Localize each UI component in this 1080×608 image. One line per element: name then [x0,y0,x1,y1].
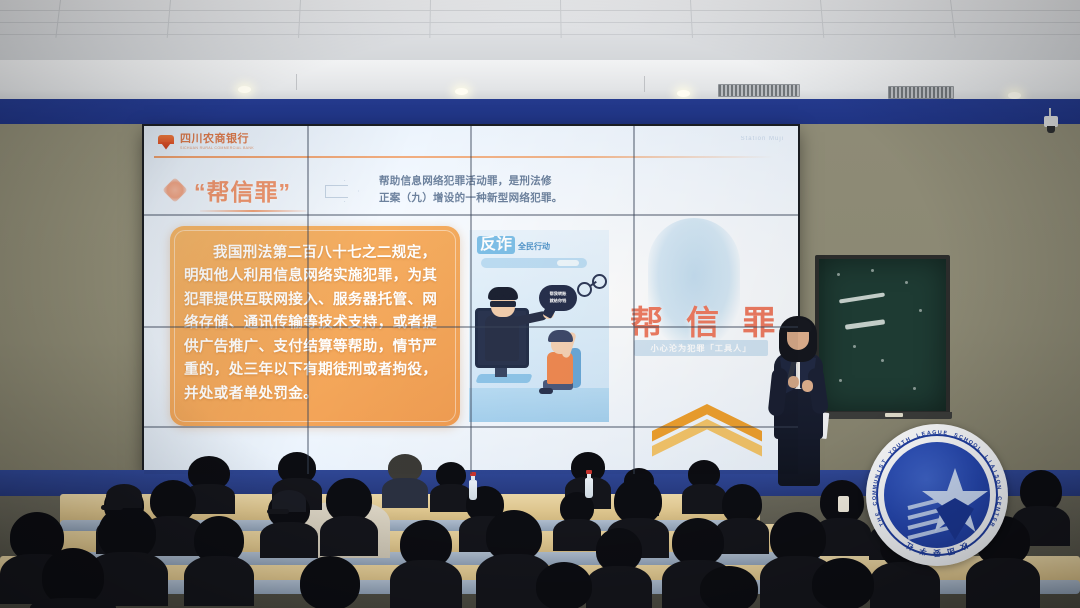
downlight-icon [677,90,690,97]
slide-title-row: “帮信罪” 帮助信息网络犯罪活动罪，是刑法修 正案（九）增设的一种新型网络犯罪。 [166,166,766,214]
scammer-hair [488,287,518,300]
downlight-icon [455,88,468,95]
lecture-hall-scene: 四川农商银行 SICHUAN RURAL COMMERCIAL BANK Sta… [0,0,1080,608]
slide-watermark: Station Muji [741,136,784,142]
chalkboard [815,255,950,415]
presenter-legs [778,434,820,486]
presenter-hand-right [802,380,813,392]
bank-name-cn: 四川农商银行 [180,134,254,145]
keyword-underline [200,210,306,212]
audience-person [812,558,874,608]
handcuffs-icon [577,272,609,298]
videowall-bezel-horizontal [144,426,798,428]
speech-bubble: 帮我转账 就给你钱 [539,285,577,311]
sunglasses-icon [490,301,516,307]
audience-person [560,492,594,548]
bubble-line-2: 就给你钱 [550,299,567,304]
hero-subtitle: 小心沦为犯罪「工具人」 [634,340,768,356]
security-camera-icon [1044,116,1058,127]
air-vent-icon [718,84,800,97]
audience-person [688,460,720,510]
anti-fraud-banner: 反诈 全民行动 [477,236,550,254]
diamond-bullet-icon [162,177,187,202]
cap-icon [272,490,306,512]
audience-person [436,462,466,508]
wall-blue-band [0,99,1080,126]
videowall-bezel-vertical [633,126,635,474]
videowall-bezel-vertical [470,126,472,474]
audience-person [820,480,864,552]
bank-name-en: SICHUAN RURAL COMMERCIAL BANK [180,147,254,151]
videowall-bezel-horizontal [144,326,798,328]
audience-person [486,510,542,606]
presenter [766,316,830,484]
ceiling-wire [644,76,645,92]
bank-logo-icon [158,135,174,150]
anti-fraud-sub-text: 全民行动 [518,243,550,252]
video-wall-display[interactable]: 四川农商银行 SICHUAN RURAL COMMERCIAL BANK Sta… [144,126,798,474]
audience-person [42,548,104,608]
downlight-icon [1008,92,1021,99]
hair-clip-icon [838,496,849,512]
audience-person [194,516,244,604]
header-divider [154,156,774,158]
arrow-right-icon [325,180,361,200]
water-bottle-icon [585,478,593,498]
ceiling [0,0,1080,66]
water-bottle-icon [469,480,477,500]
victim-foot [539,388,553,394]
air-vent-icon [888,86,954,99]
downlight-icon [238,86,251,93]
audience-person [388,454,422,504]
emblem-text-cn: 校团委学社 [866,424,1008,566]
victim-hair [548,330,573,342]
slide-keyword: “帮信罪” [194,173,291,207]
banner-pill [481,258,587,268]
cap-icon [106,484,142,508]
hero-title: 帮 信 罪 [630,296,782,344]
audience-person [98,506,156,602]
videowall-bezel-horizontal [144,214,798,216]
bubble-line-1: 帮我转账 [550,292,567,297]
audience-person [326,478,372,552]
audience-person [400,520,452,608]
anti-fraud-main-text: 反诈 [477,236,515,254]
audience-person [722,484,762,550]
victim-body [547,352,573,384]
presenter-hand-left [788,376,799,388]
audience-person [596,528,642,608]
legal-text: 我国刑法第二百八十七之二规定，明知他人利用信息网络实施犯罪，为其犯罪提供互联网接… [184,242,446,406]
monitor-neck [495,367,507,377]
audience-person [536,562,592,608]
chevron-up-double-icon [652,404,762,456]
ceiling-tile-grid [0,0,1080,38]
wall-left [0,124,152,484]
videowall-bezel-vertical [307,126,309,474]
audience-person [150,480,196,550]
audience-person [300,556,360,608]
hero-block: 帮 信 罪 小心沦为犯罪「工具人」 [612,222,792,422]
youth-league-emblem: THE COMMUNIST YOUTH LEAGUE SCHOOL LIAISO… [866,424,1008,566]
audience-person [700,566,758,608]
chalk-tray [813,412,952,419]
ceiling-wire [296,74,297,90]
bank-logo: 四川农商银行 SICHUAN RURAL COMMERCIAL BANK [158,134,254,150]
